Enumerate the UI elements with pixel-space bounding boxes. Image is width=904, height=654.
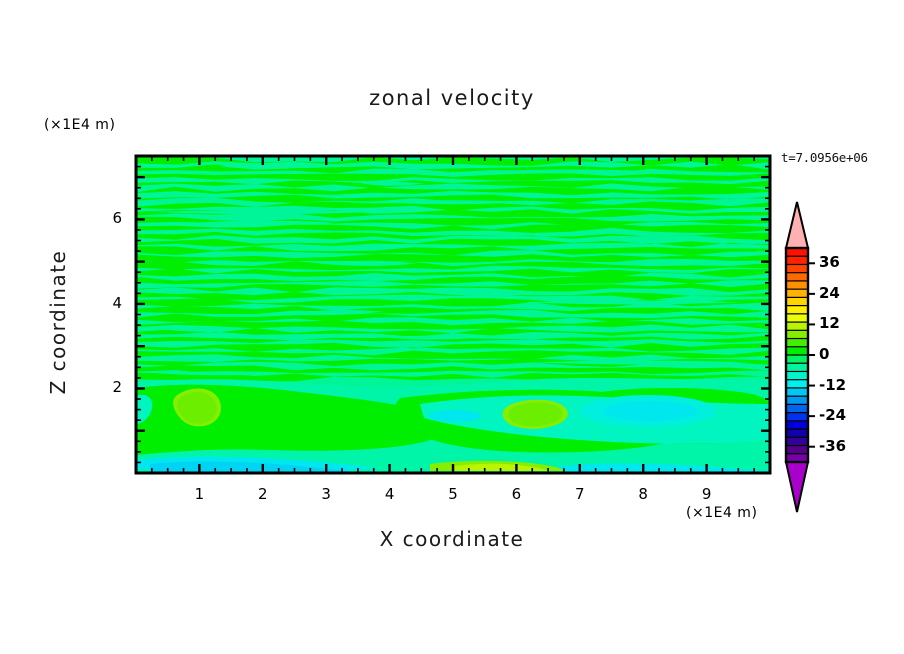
contour-plot <box>0 0 904 654</box>
colorbar-segment <box>786 256 808 265</box>
colorbar-segment <box>786 388 808 397</box>
colorbar-tick-label: -24 <box>819 406 846 424</box>
figure-canvas: zonal velocity (×1E4 m) (×1E4 m) X coord… <box>0 0 904 654</box>
y-tick-label: 2 <box>92 378 122 396</box>
x-tick-label: 3 <box>306 485 346 503</box>
x-tick-label: 6 <box>496 485 536 503</box>
colorbar-segment <box>786 289 808 298</box>
colorbar-segment <box>786 264 808 273</box>
colorbar-tick-label: 12 <box>819 314 840 332</box>
colorbar-segment <box>786 355 808 364</box>
colorbar-tick-label: -36 <box>819 437 846 455</box>
colorbar-over-arrow <box>786 202 808 248</box>
colorbar-segment <box>786 347 808 356</box>
colorbar-segment <box>786 297 808 306</box>
x-tick-label: 1 <box>179 485 219 503</box>
colorbar-segment <box>786 248 808 257</box>
x-tick-label: 8 <box>623 485 663 503</box>
y-tick-label: 6 <box>92 209 122 227</box>
colorbar-segment <box>786 339 808 348</box>
x-tick-label: 4 <box>370 485 410 503</box>
colorbar-tick-label: 36 <box>819 253 840 271</box>
x-tick-label: 2 <box>243 485 283 503</box>
colorbar-segment <box>786 429 808 438</box>
colorbar-segment <box>786 306 808 315</box>
colorbar-segment <box>786 314 808 323</box>
contour-field <box>136 156 770 473</box>
colorbar-segment <box>786 413 808 422</box>
colorbar-segment <box>786 371 808 380</box>
x-tick-label: 9 <box>687 485 727 503</box>
colorbar-segment <box>786 281 808 290</box>
colorbar-segment <box>786 330 808 339</box>
colorbar-segment <box>786 363 808 372</box>
colorbar-segment <box>786 396 808 405</box>
colorbar-tick-label: 24 <box>819 284 840 302</box>
colorbar-under-arrow <box>786 462 808 512</box>
colorbar-segment <box>786 421 808 430</box>
colorbar-segment <box>786 437 808 446</box>
colorbar-segment <box>786 446 808 455</box>
colorbar-segment <box>786 273 808 282</box>
colorbar-segment <box>786 380 808 389</box>
colorbar-segment <box>786 322 808 331</box>
colorbar-tick-label: -12 <box>819 376 846 394</box>
x-tick-label: 7 <box>560 485 600 503</box>
x-tick-label: 5 <box>433 485 473 503</box>
colorbar-tick-label: 0 <box>819 345 829 363</box>
lower-region-features <box>136 378 770 473</box>
colorbar-segment <box>786 404 808 413</box>
colorbar <box>786 202 815 512</box>
y-tick-label: 4 <box>92 294 122 312</box>
